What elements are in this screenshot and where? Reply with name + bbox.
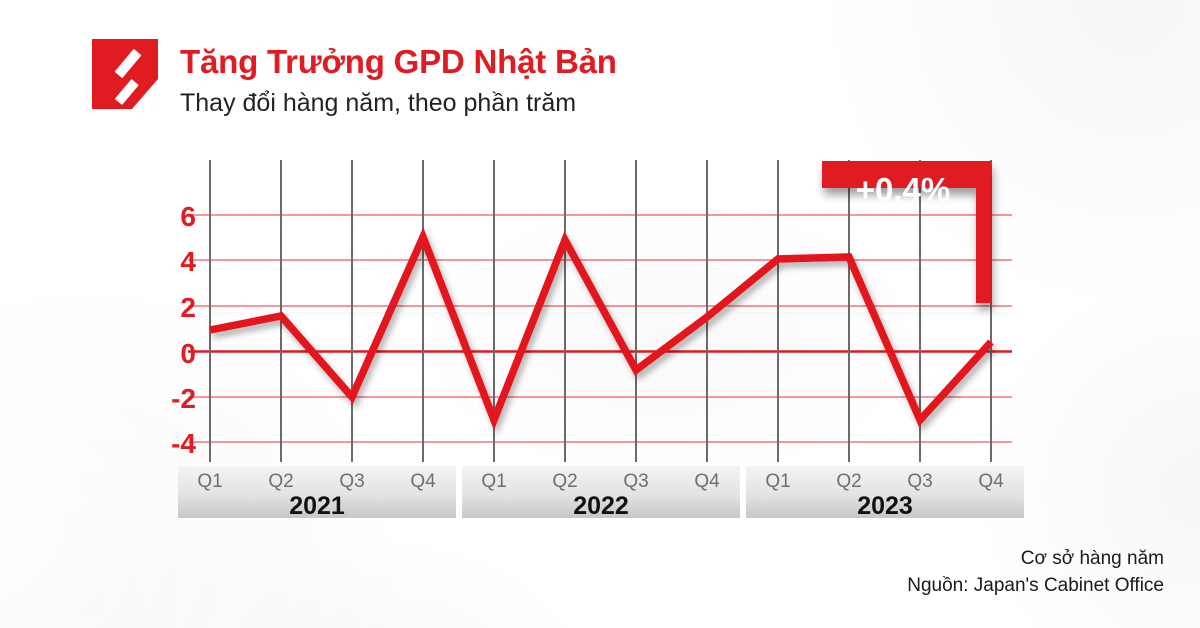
- y-tick-label: 2: [180, 292, 196, 323]
- quarter-label: Q2: [552, 471, 577, 492]
- quarter-label: Q3: [339, 471, 364, 492]
- y-tick-label: 0: [180, 338, 196, 369]
- quarter-label: Q1: [197, 471, 222, 492]
- horizontal-gridlines: [188, 215, 1012, 442]
- quarter-label: Q2: [836, 471, 861, 492]
- gdp-growth-line: [210, 237, 991, 420]
- y-tick-label: -4: [171, 428, 196, 459]
- quarter-label: Q4: [410, 471, 436, 492]
- footer: Cơ sở hàng năm Nguồn: Japan's Cabinet Of…: [907, 545, 1164, 600]
- quarter-label: Q3: [623, 471, 648, 492]
- quarter-label: Q2: [268, 471, 293, 492]
- year-label: 2021: [289, 492, 345, 520]
- y-tick-label: 4: [180, 246, 196, 277]
- quarter-label: Q1: [765, 471, 790, 492]
- footer-basis: Cơ sở hàng năm: [907, 545, 1164, 573]
- infographic-root: Tăng Trưởng GPD Nhật Bản Thay đổi hàng n…: [0, 0, 1200, 628]
- y-tick-label: -2: [171, 383, 196, 414]
- line-chart-svg: 6 4 2 0 -2 -4 Q1 Q2 Q3 Q4 Q1: [0, 0, 1200, 628]
- footer-source: Nguồn: Japan's Cabinet Office: [907, 572, 1164, 600]
- quarter-label: Q1: [481, 471, 506, 492]
- callout-value: +0.4%: [856, 171, 951, 208]
- y-tick-label: 6: [180, 201, 196, 232]
- y-axis-labels: 6 4 2 0 -2 -4: [171, 201, 196, 459]
- quarter-label: Q4: [978, 471, 1004, 492]
- year-label: 2023: [857, 492, 913, 520]
- quarter-label: Q4: [694, 471, 720, 492]
- year-label: 2022: [573, 492, 629, 520]
- quarter-label: Q3: [907, 471, 932, 492]
- chart-container: 6 4 2 0 -2 -4 Q1 Q2 Q3 Q4 Q1: [0, 0, 1200, 628]
